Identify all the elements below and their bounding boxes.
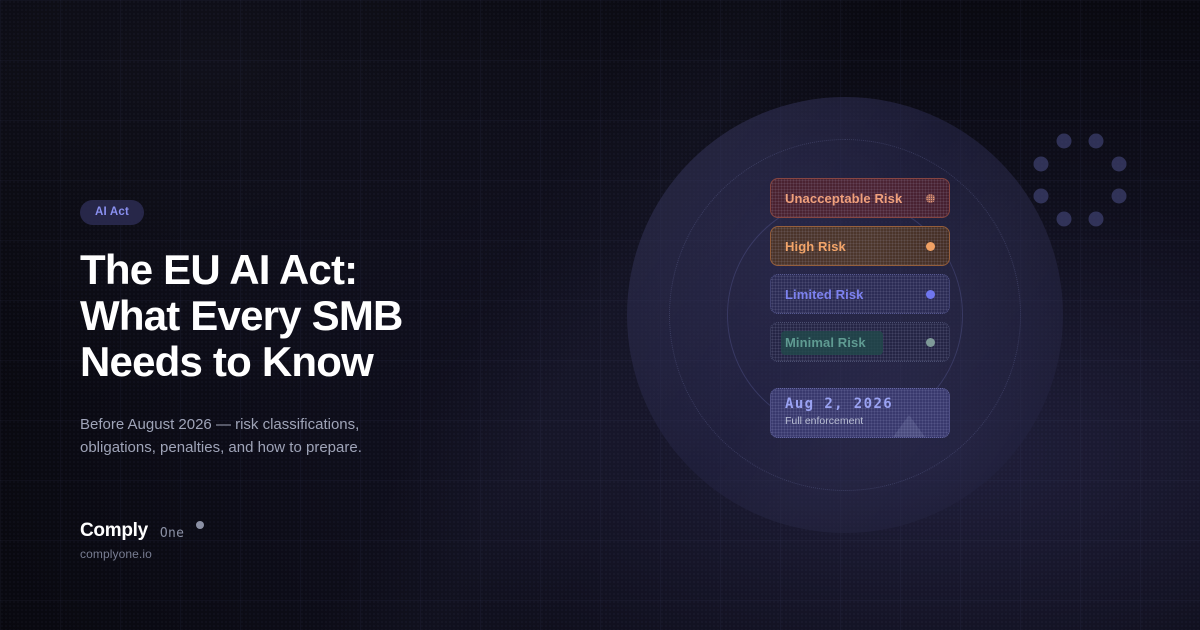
risk-card-minimal[interactable]: Minimal Risk: [770, 322, 950, 362]
risk-card-high[interactable]: High Risk: [770, 226, 950, 266]
page-title-line: What Every SMB: [80, 293, 550, 339]
hatched-dot-indicator: [926, 194, 935, 203]
og-card-canvas: Unacceptable Risk High Risk Limited Risk…: [0, 0, 1200, 630]
cluster-dot: [1111, 188, 1126, 203]
category-badge: AI Act: [80, 200, 144, 225]
hero-copy: AI Act The EU AI Act: What Every SMB Nee…: [80, 200, 550, 474]
brand-row: Comply One: [80, 520, 204, 542]
enforcement-date-caption: Full enforcement: [785, 414, 935, 428]
cluster-dot: [1034, 157, 1049, 172]
risk-card-label: High Risk: [785, 239, 926, 254]
brand-name: Comply: [80, 520, 148, 542]
cluster-dot: [1057, 211, 1072, 226]
solid-dot-indicator: [926, 242, 935, 251]
solid-dot-indicator: [926, 290, 935, 299]
page-subtitle: Before August 2026 — risk classification…: [80, 413, 410, 459]
page-title-line: Needs to Know: [80, 339, 550, 385]
cluster-dot: [1089, 211, 1104, 226]
cluster-dot: [1056, 134, 1071, 149]
solid-dot-indicator: [926, 338, 935, 347]
page-title: The EU AI Act: What Every SMB Needs to K…: [80, 247, 550, 385]
page-title-line: The EU AI Act:: [80, 247, 550, 293]
brand-dot-icon: [196, 521, 204, 529]
risk-card-label: Unacceptable Risk: [785, 191, 926, 206]
enforcement-date-value: Aug 2, 2026: [785, 395, 935, 413]
page-subtitle-line: Before August 2026 — risk classification…: [80, 413, 410, 436]
risk-card-unacceptable[interactable]: Unacceptable Risk: [770, 178, 950, 218]
brand-suffix: One: [160, 526, 184, 541]
cluster-dot: [1034, 189, 1049, 204]
page-subtitle-line: obligations, penalties, and how to prepa…: [80, 436, 410, 459]
brand-url: complyone.io: [80, 547, 204, 561]
brand-lockup: Comply One complyone.io: [80, 520, 204, 561]
dot-cluster-decoration: [1032, 132, 1128, 228]
risk-tier-list: Unacceptable Risk High Risk Limited Risk…: [770, 178, 950, 370]
enforcement-date-card[interactable]: Aug 2, 2026 Full enforcement: [770, 388, 950, 438]
cluster-dot: [1111, 156, 1126, 171]
risk-card-limited[interactable]: Limited Risk: [770, 274, 950, 314]
cluster-dot: [1088, 134, 1103, 149]
risk-card-label: Minimal Risk: [785, 335, 926, 350]
risk-card-label: Limited Risk: [785, 287, 926, 302]
